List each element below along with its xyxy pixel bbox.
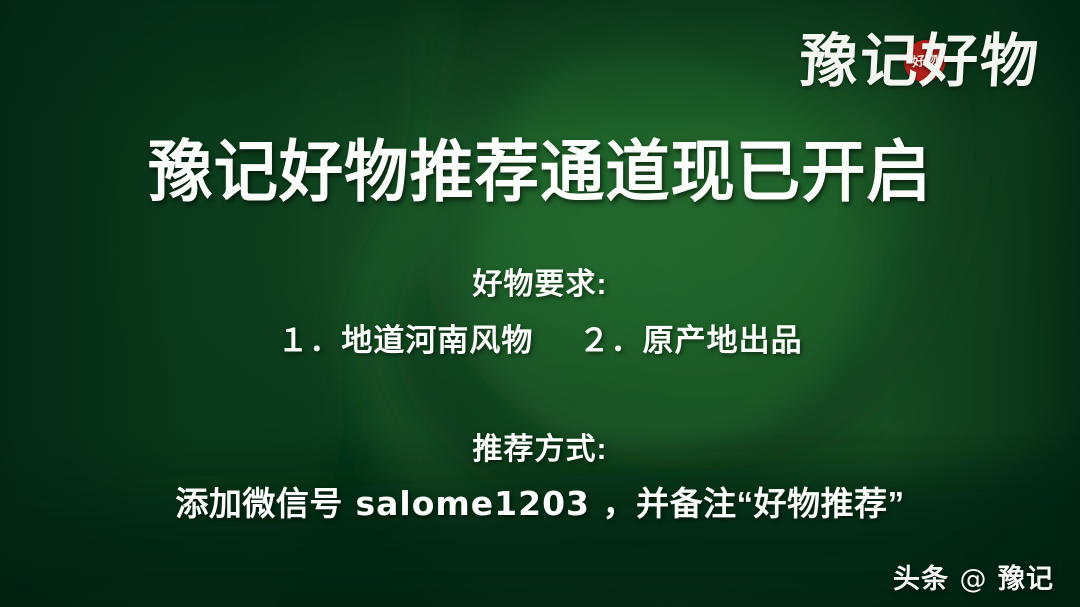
brand-logo-characters: 豫记好物 [798, 27, 1042, 95]
poster-canvas: 好物 豫记好物 豫记好物推荐通道现已开启 好物要求: １．地道河南风物 ２．原产… [0, 0, 1080, 607]
method-instruction: 添加微信号 salome1203 ，并备注“好物推荐” [0, 487, 1080, 520]
requirement-item-2: ２．原产地出品 [579, 323, 803, 358]
method-prefix: 添加微信号 [175, 485, 343, 522]
watermark: 头条 @ 豫记 [893, 566, 1054, 593]
watermark-account: 豫记 [998, 564, 1054, 594]
requirement-item-1: １．地道河南风物 [277, 323, 533, 358]
at-symbol-icon: @ [957, 564, 989, 595]
brand-logo-text: 好物 豫记好物 [798, 32, 1041, 90]
method-suffix: ，并备注“好物推荐” [603, 485, 905, 522]
requirements-label: 好物要求: [0, 270, 1080, 300]
wechat-id-value: salome1203 [352, 484, 593, 523]
method-label: 推荐方式: [0, 435, 1080, 465]
brand-logo: 好物 豫记好物 [800, 22, 1040, 100]
watermark-platform: 头条 [893, 564, 949, 594]
page-title: 豫记好物推荐通道现已开启 [22, 139, 1059, 206]
requirements-list: １．地道河南风物 ２．原产地出品 [0, 325, 1080, 356]
